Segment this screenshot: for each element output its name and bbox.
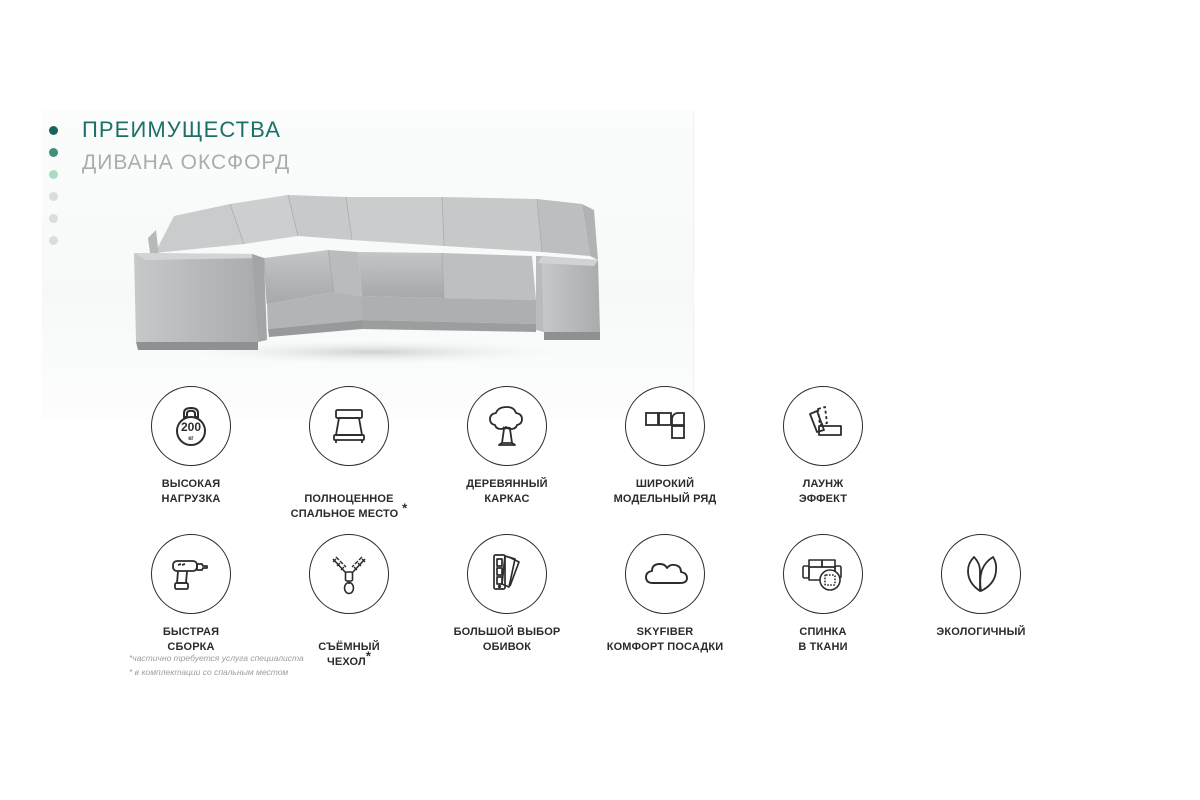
feature-eco-friendly[interactable]: ЭКОЛОГИЧНЫЙ <box>902 534 1060 640</box>
tree-icon <box>467 386 547 466</box>
feature-caption: СЪЁМНЫЙ ЧЕХОЛ* <box>318 625 380 671</box>
footnote-1: *частично требуется услуга специалиста <box>129 652 304 666</box>
feature-fast-assembly[interactable]: БЫСТРАЯ СБОРКА <box>112 534 270 655</box>
dot-3 <box>49 170 58 179</box>
features-grid: 200 кг ВЫСОКАЯ НАГРУЗКА ПОЛНОЦЕННОЕ СПАЛ… <box>112 386 1092 670</box>
feature-skyfiber-comfort[interactable]: SKYFIBER КОМФОРТ ПОСАДКИ <box>586 534 744 655</box>
feature-caption: ЭКОЛОГИЧНЫЙ <box>936 625 1025 640</box>
drill-icon <box>151 534 231 614</box>
asterisk-marker: * <box>366 648 371 663</box>
feature-caption: ДЕРЕВЯННЫЙ КАРКАС <box>466 477 548 507</box>
feature-upholstery-choice[interactable]: БОЛЬШОЙ ВЫБОР ОБИВОК <box>428 534 586 655</box>
features-row-1: 200 кг ВЫСОКАЯ НАГРУЗКА ПОЛНОЦЕННОЕ СПАЛ… <box>112 386 1092 523</box>
sofa-hero-image <box>112 180 632 370</box>
feature-lounge-effect[interactable]: ЛАУНЖ ЭФФЕКТ <box>744 386 902 507</box>
feature-wooden-frame[interactable]: ДЕРЕВЯННЫЙ КАРКАС <box>428 386 586 507</box>
feature-caption: БОЛЬШОЙ ВЫБОР ОБИВОК <box>454 625 561 655</box>
feature-high-load[interactable]: 200 кг ВЫСОКАЯ НАГРУЗКА <box>112 386 270 507</box>
feature-caption: СПИНКА В ТКАНИ <box>798 625 847 655</box>
progress-dots-rail <box>46 126 60 245</box>
dot-1 <box>49 126 58 135</box>
zipper-icon <box>309 534 389 614</box>
kettlebell-icon: 200 кг <box>151 386 231 466</box>
page-title: ПРЕИМУЩЕСТВА <box>82 119 290 141</box>
feature-caption: SKYFIBER КОМФОРТ ПОСАДКИ <box>607 625 724 655</box>
fabric-swatches-icon <box>467 534 547 614</box>
asterisk-marker: * <box>398 501 407 516</box>
feature-caption: ЛАУНЖ ЭФФЕКТ <box>799 477 847 507</box>
feature-caption: БЫСТРАЯ СБОРКА <box>163 625 219 655</box>
dot-5 <box>49 214 58 223</box>
bed-icon <box>309 386 389 466</box>
feature-full-sleeping-place[interactable]: ПОЛНОЦЕННОЕ СПАЛЬНОЕ МЕСТО * <box>270 386 428 523</box>
cloud-icon <box>625 534 705 614</box>
feature-wide-model-range[interactable]: ШИРОКИЙ МОДЕЛЬНЫЙ РЯД <box>586 386 744 507</box>
weight-unit: кг <box>188 436 194 442</box>
dot-4 <box>49 192 58 201</box>
feature-caption: ПОЛНОЦЕННОЕ СПАЛЬНОЕ МЕСТО * <box>291 477 408 523</box>
leaves-icon <box>941 534 1021 614</box>
sofa-back-fabric-icon <box>783 534 863 614</box>
feature-caption: ШИРОКИЙ МОДЕЛЬНЫЙ РЯД <box>614 477 717 507</box>
features-row-2: БЫСТРАЯ СБОРКА <box>112 534 1092 671</box>
dot-2 <box>49 148 58 157</box>
weight-value: 200 <box>181 420 201 434</box>
modular-layout-icon <box>625 386 705 466</box>
feature-caption-text: ПОЛНОЦЕННОЕ СПАЛЬНОЕ МЕСТО <box>291 493 399 520</box>
footnotes: *частично требуется услуга специалиста *… <box>129 652 304 680</box>
page-subtitle: ДИВАНА ОКСФОРД <box>82 152 290 173</box>
feature-removable-cover[interactable]: СЪЁМНЫЙ ЧЕХОЛ* <box>270 534 428 671</box>
page-heading: ПРЕИМУЩЕСТВА ДИВАНА ОКСФОРД <box>82 119 290 173</box>
feature-caption: ВЫСОКАЯ НАГРУЗКА <box>162 477 221 507</box>
dot-6 <box>49 236 58 245</box>
footnote-2: * в комплектации со спальным местом <box>129 666 304 680</box>
reclining-backrest-icon <box>783 386 863 466</box>
feature-fabric-back[interactable]: СПИНКА В ТКАНИ <box>744 534 902 655</box>
